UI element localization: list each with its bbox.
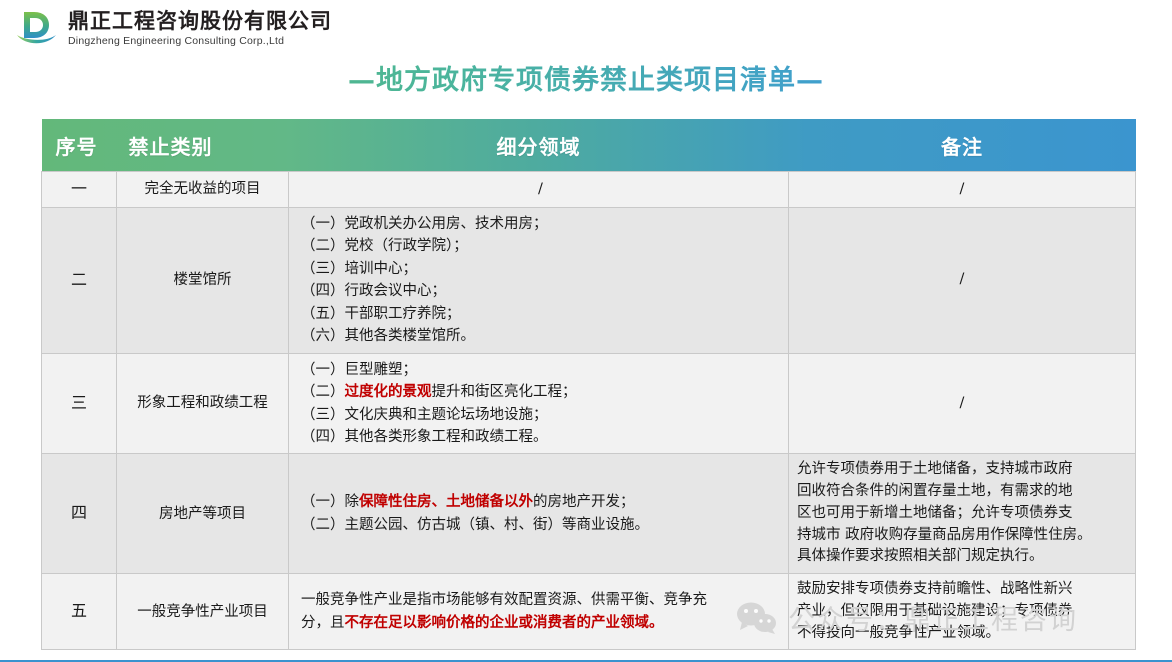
column-header-remark: 备注	[789, 119, 1136, 172]
table-body: 一完全无收益的项目//二楼堂馆所（一）党政机关办公用房、技术用房；（二）党校（行…	[42, 172, 1136, 650]
remark-line: 产业，但仅限用于基础设施建设；专项债券	[797, 601, 1127, 623]
company-name-en: Dingzheng Engineering Consulting Corp.,L…	[68, 35, 332, 49]
prohibited-projects-table-wrap: 序号 禁止类别 细分领域 备注 一完全无收益的项目//二楼堂馆所（一）党政机关办…	[41, 119, 1135, 650]
remark-line: 不得投向一般竞争性产业领域。	[797, 623, 1127, 645]
cell-domain: /	[289, 172, 789, 208]
logo-wrap: 鼎正工程咨询股份有限公司 Dingzheng Engineering Consu…	[14, 8, 332, 50]
remark-line: 具体操作要求按照相关部门规定执行。	[797, 546, 1127, 568]
remark-line: 区也可用于新增土地储备；允许专项债券支	[797, 503, 1127, 525]
table-row: 二楼堂馆所（一）党政机关办公用房、技术用房；（二）党校（行政学院）；（三）培训中…	[42, 207, 1136, 353]
table-header-row: 序号 禁止类别 细分领域 备注	[42, 119, 1136, 172]
domain-line: （一）除保障性住房、土地储备以外的房地产开发；	[301, 491, 780, 513]
cell-category: 形象工程和政绩工程	[117, 353, 289, 454]
domain-line: （四）行政会议中心；	[301, 280, 780, 302]
prohibited-projects-table: 序号 禁止类别 细分领域 备注 一完全无收益的项目//二楼堂馆所（一）党政机关办…	[41, 119, 1136, 650]
remark-line: /	[797, 179, 1127, 201]
cell-category: 房地产等项目	[117, 454, 289, 574]
table-row: 四房地产等项目（一）除保障性住房、土地储备以外的房地产开发；（二）主题公园、仿古…	[42, 454, 1136, 574]
domain-line: （四）其他各类形象工程和政绩工程。	[301, 426, 780, 448]
domain-line: （一）党政机关办公用房、技术用房；	[301, 213, 780, 235]
domain-line: （三）培训中心；	[301, 258, 780, 280]
logo-text-block: 鼎正工程咨询股份有限公司 Dingzheng Engineering Consu…	[68, 10, 332, 49]
table-row: 三形象工程和政绩工程（一）巨型雕塑；（二）过度化的景观提升和街区亮化工程；（三）…	[42, 353, 1136, 454]
column-header-index: 序号	[42, 119, 117, 172]
cell-remark: 鼓励安排专项债券支持前瞻性、战略性新兴产业，但仅限用于基础设施建设；专项债券不得…	[789, 574, 1136, 650]
highlight-text: 过度化的景观	[345, 384, 432, 400]
cell-category: 完全无收益的项目	[117, 172, 289, 208]
cell-category: 楼堂馆所	[117, 207, 289, 353]
cell-domain: （一）巨型雕塑；（二）过度化的景观提升和街区亮化工程；（三）文化庆典和主题论坛场…	[289, 353, 789, 454]
domain-line: （一）巨型雕塑；	[301, 359, 780, 381]
remark-line: /	[797, 269, 1127, 291]
remark-line: 回收符合条件的闲置存量土地，有需求的地	[797, 481, 1127, 503]
cell-index: 三	[42, 353, 117, 454]
remark-line: /	[797, 393, 1127, 415]
company-name-cn: 鼎正工程咨询股份有限公司	[68, 10, 332, 33]
domain-line: （二）党校（行政学院）；	[301, 235, 780, 257]
cell-category: 一般竞争性产业项目	[117, 574, 289, 650]
cell-remark: /	[789, 207, 1136, 353]
brand-header: 鼎正工程咨询股份有限公司 Dingzheng Engineering Consu…	[0, 0, 1172, 56]
domain-line: （二）主题公园、仿古城（镇、村、街）等商业设施。	[301, 514, 780, 536]
domain-line: 分，且不存在足以影响价格的企业或消费者的产业领域。	[301, 612, 780, 634]
page-title: —地方政府专项债券禁止类项目清单—	[0, 58, 1172, 97]
cell-domain: 一般竞争性产业是指市场能够有效配置资源、供需平衡、竞争充分，且不存在足以影响价格…	[289, 574, 789, 650]
cell-index: 二	[42, 207, 117, 353]
dingzheng-d-logo-icon	[14, 8, 60, 50]
cell-remark: /	[789, 353, 1136, 454]
domain-line: （二）过度化的景观提升和街区亮化工程；	[301, 381, 780, 403]
column-header-category: 禁止类别	[117, 119, 289, 172]
cell-domain: （一）党政机关办公用房、技术用房；（二）党校（行政学院）；（三）培训中心；（四）…	[289, 207, 789, 353]
table-header: 序号 禁止类别 细分领域 备注	[42, 119, 1136, 172]
domain-line: （五）干部职工疗养院；	[301, 303, 780, 325]
domain-line: （三）文化庆典和主题论坛场地设施；	[301, 404, 780, 426]
domain-line: 一般竞争性产业是指市场能够有效配置资源、供需平衡、竞争充	[301, 589, 780, 611]
table-row: 五一般竞争性产业项目一般竞争性产业是指市场能够有效配置资源、供需平衡、竞争充分，…	[42, 574, 1136, 650]
cell-remark: /	[789, 172, 1136, 208]
cell-index: 四	[42, 454, 117, 574]
remark-line: 鼓励安排专项债券支持前瞻性、战略性新兴	[797, 579, 1127, 601]
cell-domain: （一）除保障性住房、土地储备以外的房地产开发；（二）主题公园、仿古城（镇、村、街…	[289, 454, 789, 574]
remark-line: 持城市 政府收购存量商品房用作保障性住房。	[797, 525, 1127, 547]
cell-index: 五	[42, 574, 117, 650]
cell-index: 一	[42, 172, 117, 208]
highlight-text: 不存在足以影响价格的企业或消费者的产业领域。	[345, 615, 664, 631]
domain-line: /	[301, 178, 780, 200]
column-header-domain: 细分领域	[289, 119, 789, 172]
cell-remark: 允许专项债券用于土地储备，支持城市政府回收符合条件的闲置存量土地，有需求的地区也…	[789, 454, 1136, 574]
highlight-text: 保障性住房、土地储备以外	[359, 494, 533, 510]
domain-line: （六）其他各类楼堂馆所。	[301, 325, 780, 347]
remark-line: 允许专项债券用于土地储备，支持城市政府	[797, 459, 1127, 481]
table-row: 一完全无收益的项目//	[42, 172, 1136, 208]
